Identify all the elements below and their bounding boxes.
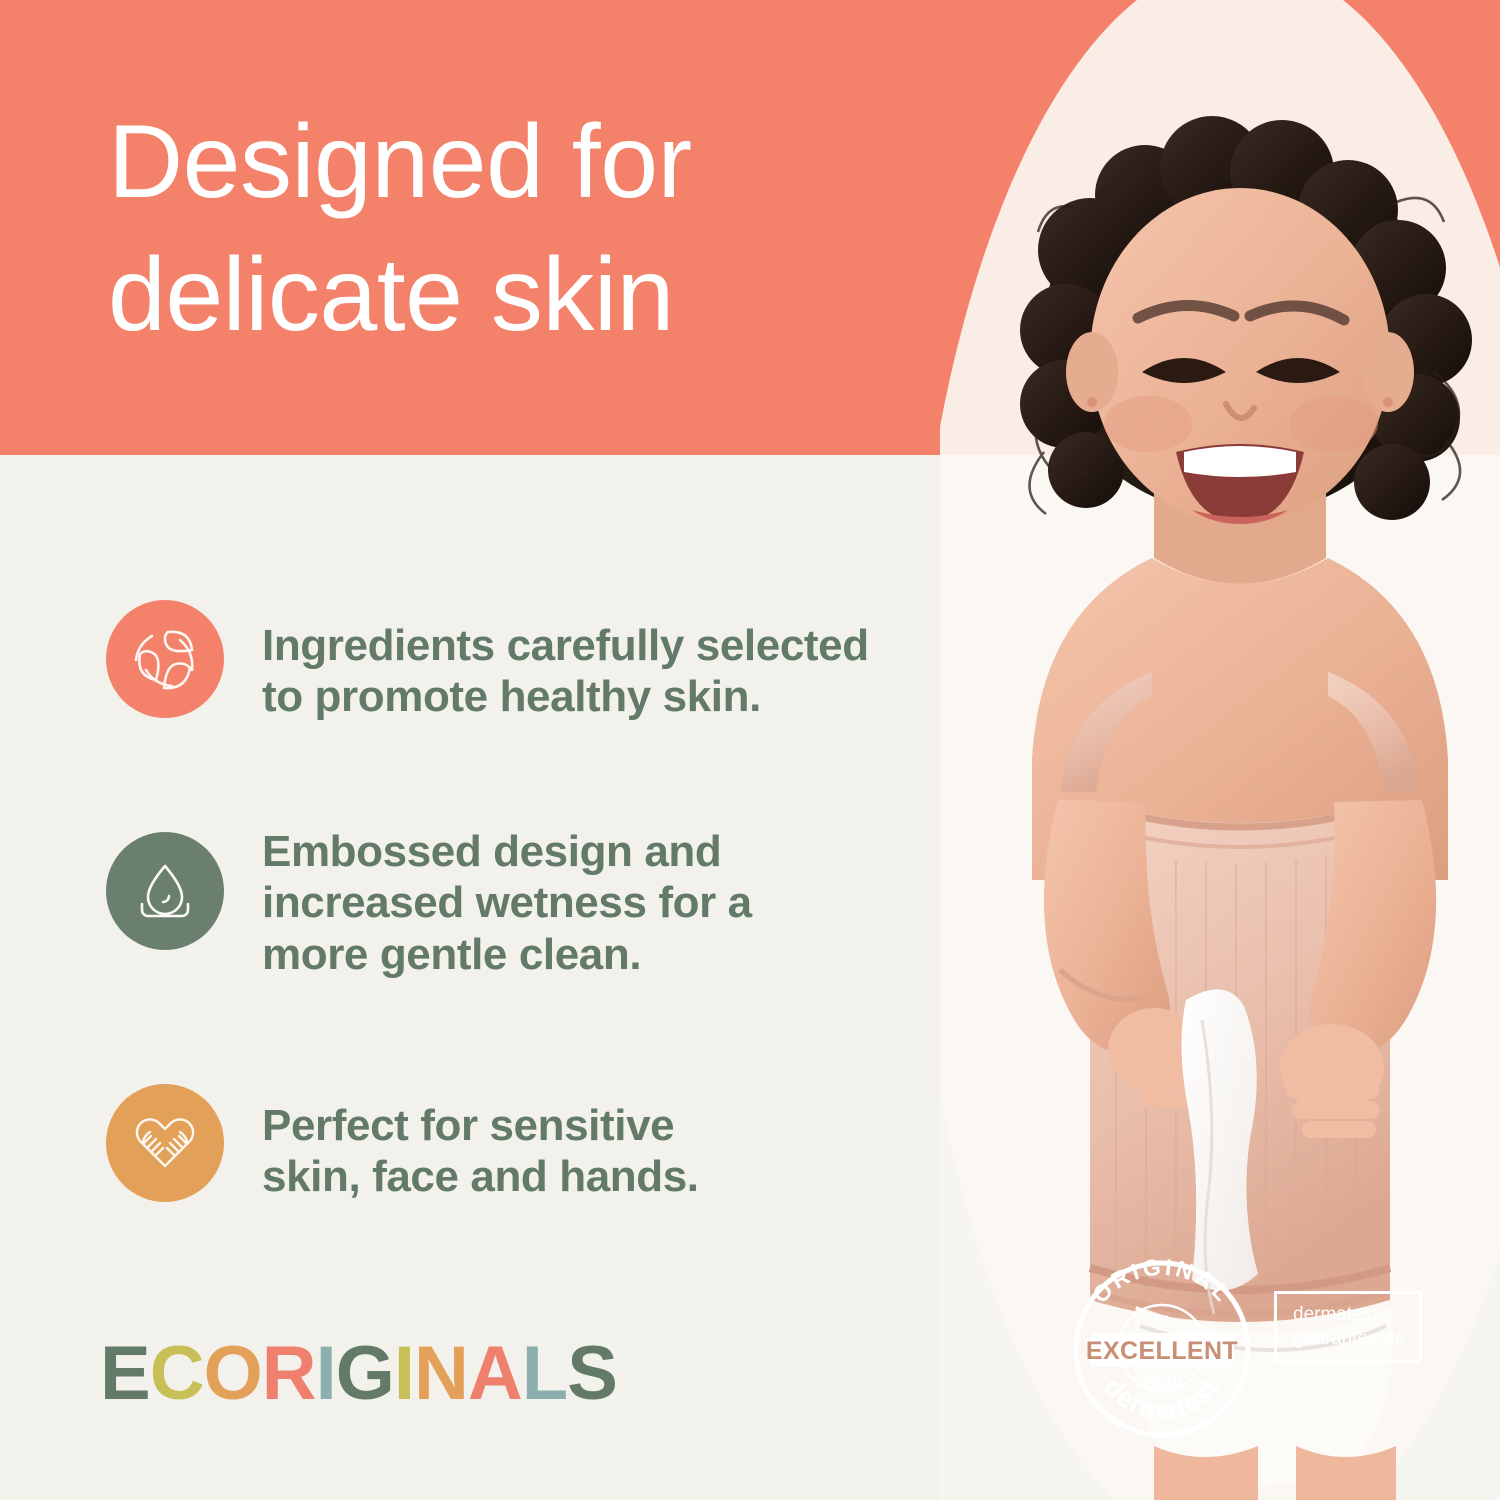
logo-letter: A: [468, 1336, 522, 1412]
seal-year: 2020: [1142, 1373, 1182, 1393]
feature-item-embossed: Embossed design and increased wetness fo…: [106, 832, 752, 980]
logo-letter: R: [262, 1336, 316, 1412]
guarantee-url-text: dermatest- guarantee.de: [1293, 1303, 1405, 1351]
logo-letter: I: [394, 1336, 414, 1412]
marketing-graphic: Designed for delicate skin Ingredients c…: [0, 0, 1500, 1500]
feature-text-sensitive: Perfect for sensitive skin, face and han…: [262, 1100, 699, 1203]
feature-text-ingredients: Ingredients carefully selected to promot…: [262, 620, 869, 723]
logo-letter: G: [336, 1336, 394, 1412]
brand-logo: E C O R I G I N A L S: [100, 1336, 617, 1412]
feature-item-ingredients: Ingredients carefully selected to promot…: [106, 600, 869, 723]
leaf-cycle-badge: [106, 600, 224, 718]
water-droplet-icon: [128, 854, 202, 928]
logo-letter: I: [316, 1336, 336, 1412]
seal-registered-mark: ®: [1210, 1382, 1218, 1394]
logo-letter: N: [414, 1336, 468, 1412]
logo-letter: C: [150, 1336, 204, 1412]
dermatest-certification: ORIGINAL dermatest 02 EXCELLENT 2020 ® d…: [1062, 1249, 1432, 1449]
dermatest-seal: ORIGINAL dermatest 02 EXCELLENT 2020 ®: [1062, 1249, 1262, 1449]
seal-number: 02: [1154, 1312, 1170, 1328]
logo-letter: S: [567, 1336, 617, 1412]
water-droplet-badge: [106, 832, 224, 950]
hands-heart-icon: [128, 1106, 202, 1180]
seal-rating: EXCELLENT: [1086, 1337, 1238, 1365]
leaf-cycle-icon: [128, 622, 202, 696]
feature-item-sensitive: Perfect for sensitive skin, face and han…: [106, 1084, 699, 1203]
hands-heart-badge: [106, 1084, 224, 1202]
logo-letter: O: [204, 1336, 262, 1412]
feature-text-embossed: Embossed design and increased wetness fo…: [262, 826, 752, 980]
guarantee-url-box[interactable]: dermatest- guarantee.de: [1274, 1291, 1422, 1363]
dermatest-seal-icon: ORIGINAL dermatest 02 EXCELLENT 2020 ®: [1062, 1249, 1262, 1449]
logo-letter: L: [522, 1336, 567, 1412]
logo-letter: E: [100, 1336, 150, 1412]
page-title: Designed for delicate skin: [108, 96, 1008, 362]
